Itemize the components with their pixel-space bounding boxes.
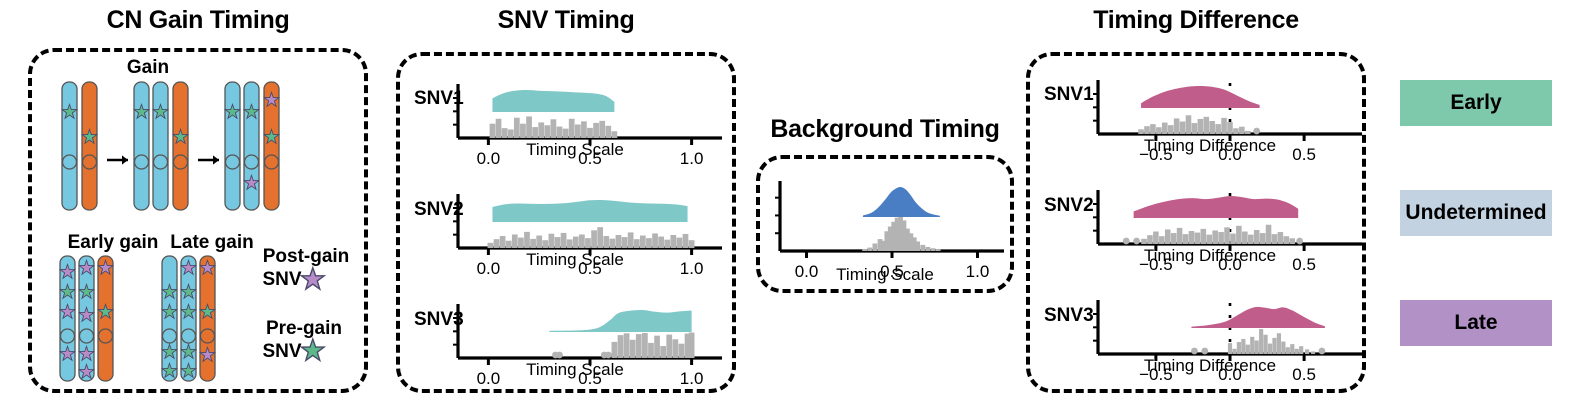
legend-post-gain-snv-line2: SNV	[252, 269, 312, 291]
result-box-late: Late	[1400, 300, 1552, 346]
result-box-early: Early	[1400, 80, 1552, 126]
axis-label-snv1-difference: Timing Difference	[1110, 136, 1310, 156]
panel-title-cn-gain-timing: CN Gain Timing	[28, 6, 368, 35]
svg-text:1.0: 1.0	[680, 149, 704, 168]
svg-text:1.0: 1.0	[680, 369, 704, 388]
panel-title-timing-difference: Timing Difference	[1026, 6, 1366, 35]
panel-title-background-timing: Background Timing	[754, 115, 1016, 144]
axis-label-snv3-timing: Timing Scale	[480, 360, 670, 380]
legend-pre-gain-snv-line1: Pre-gain	[260, 318, 348, 340]
early-gain-label: Early gain	[58, 232, 168, 254]
axis-label-snv2-difference: Timing Difference	[1110, 246, 1310, 266]
svg-text:1.0: 1.0	[680, 259, 704, 278]
axis-label-background-timing: Timing Scale	[790, 265, 980, 285]
axis-label-snv1-timing: Timing Scale	[480, 140, 670, 160]
late-gain-label: Late gain	[160, 232, 264, 254]
result-box-undetermined: Undetermined	[1400, 190, 1552, 236]
panel-title-snv-timing: SNV Timing	[396, 6, 736, 35]
legend-post-gain-snv-line1: Post-gain	[258, 246, 354, 268]
axis-label-snv3-difference: Timing Difference	[1110, 356, 1310, 376]
gain-label: Gain	[108, 57, 188, 79]
legend-pre-gain-snv-line2: SNV	[252, 341, 312, 363]
axis-label-snv2-timing: Timing Scale	[480, 250, 670, 270]
snv-timing-plots: 0.00.51.00.00.51.00.00.51.0	[396, 52, 736, 393]
timing-difference-plots: −0.50.00.5−0.50.00.5−0.50.00.5	[1026, 52, 1366, 393]
